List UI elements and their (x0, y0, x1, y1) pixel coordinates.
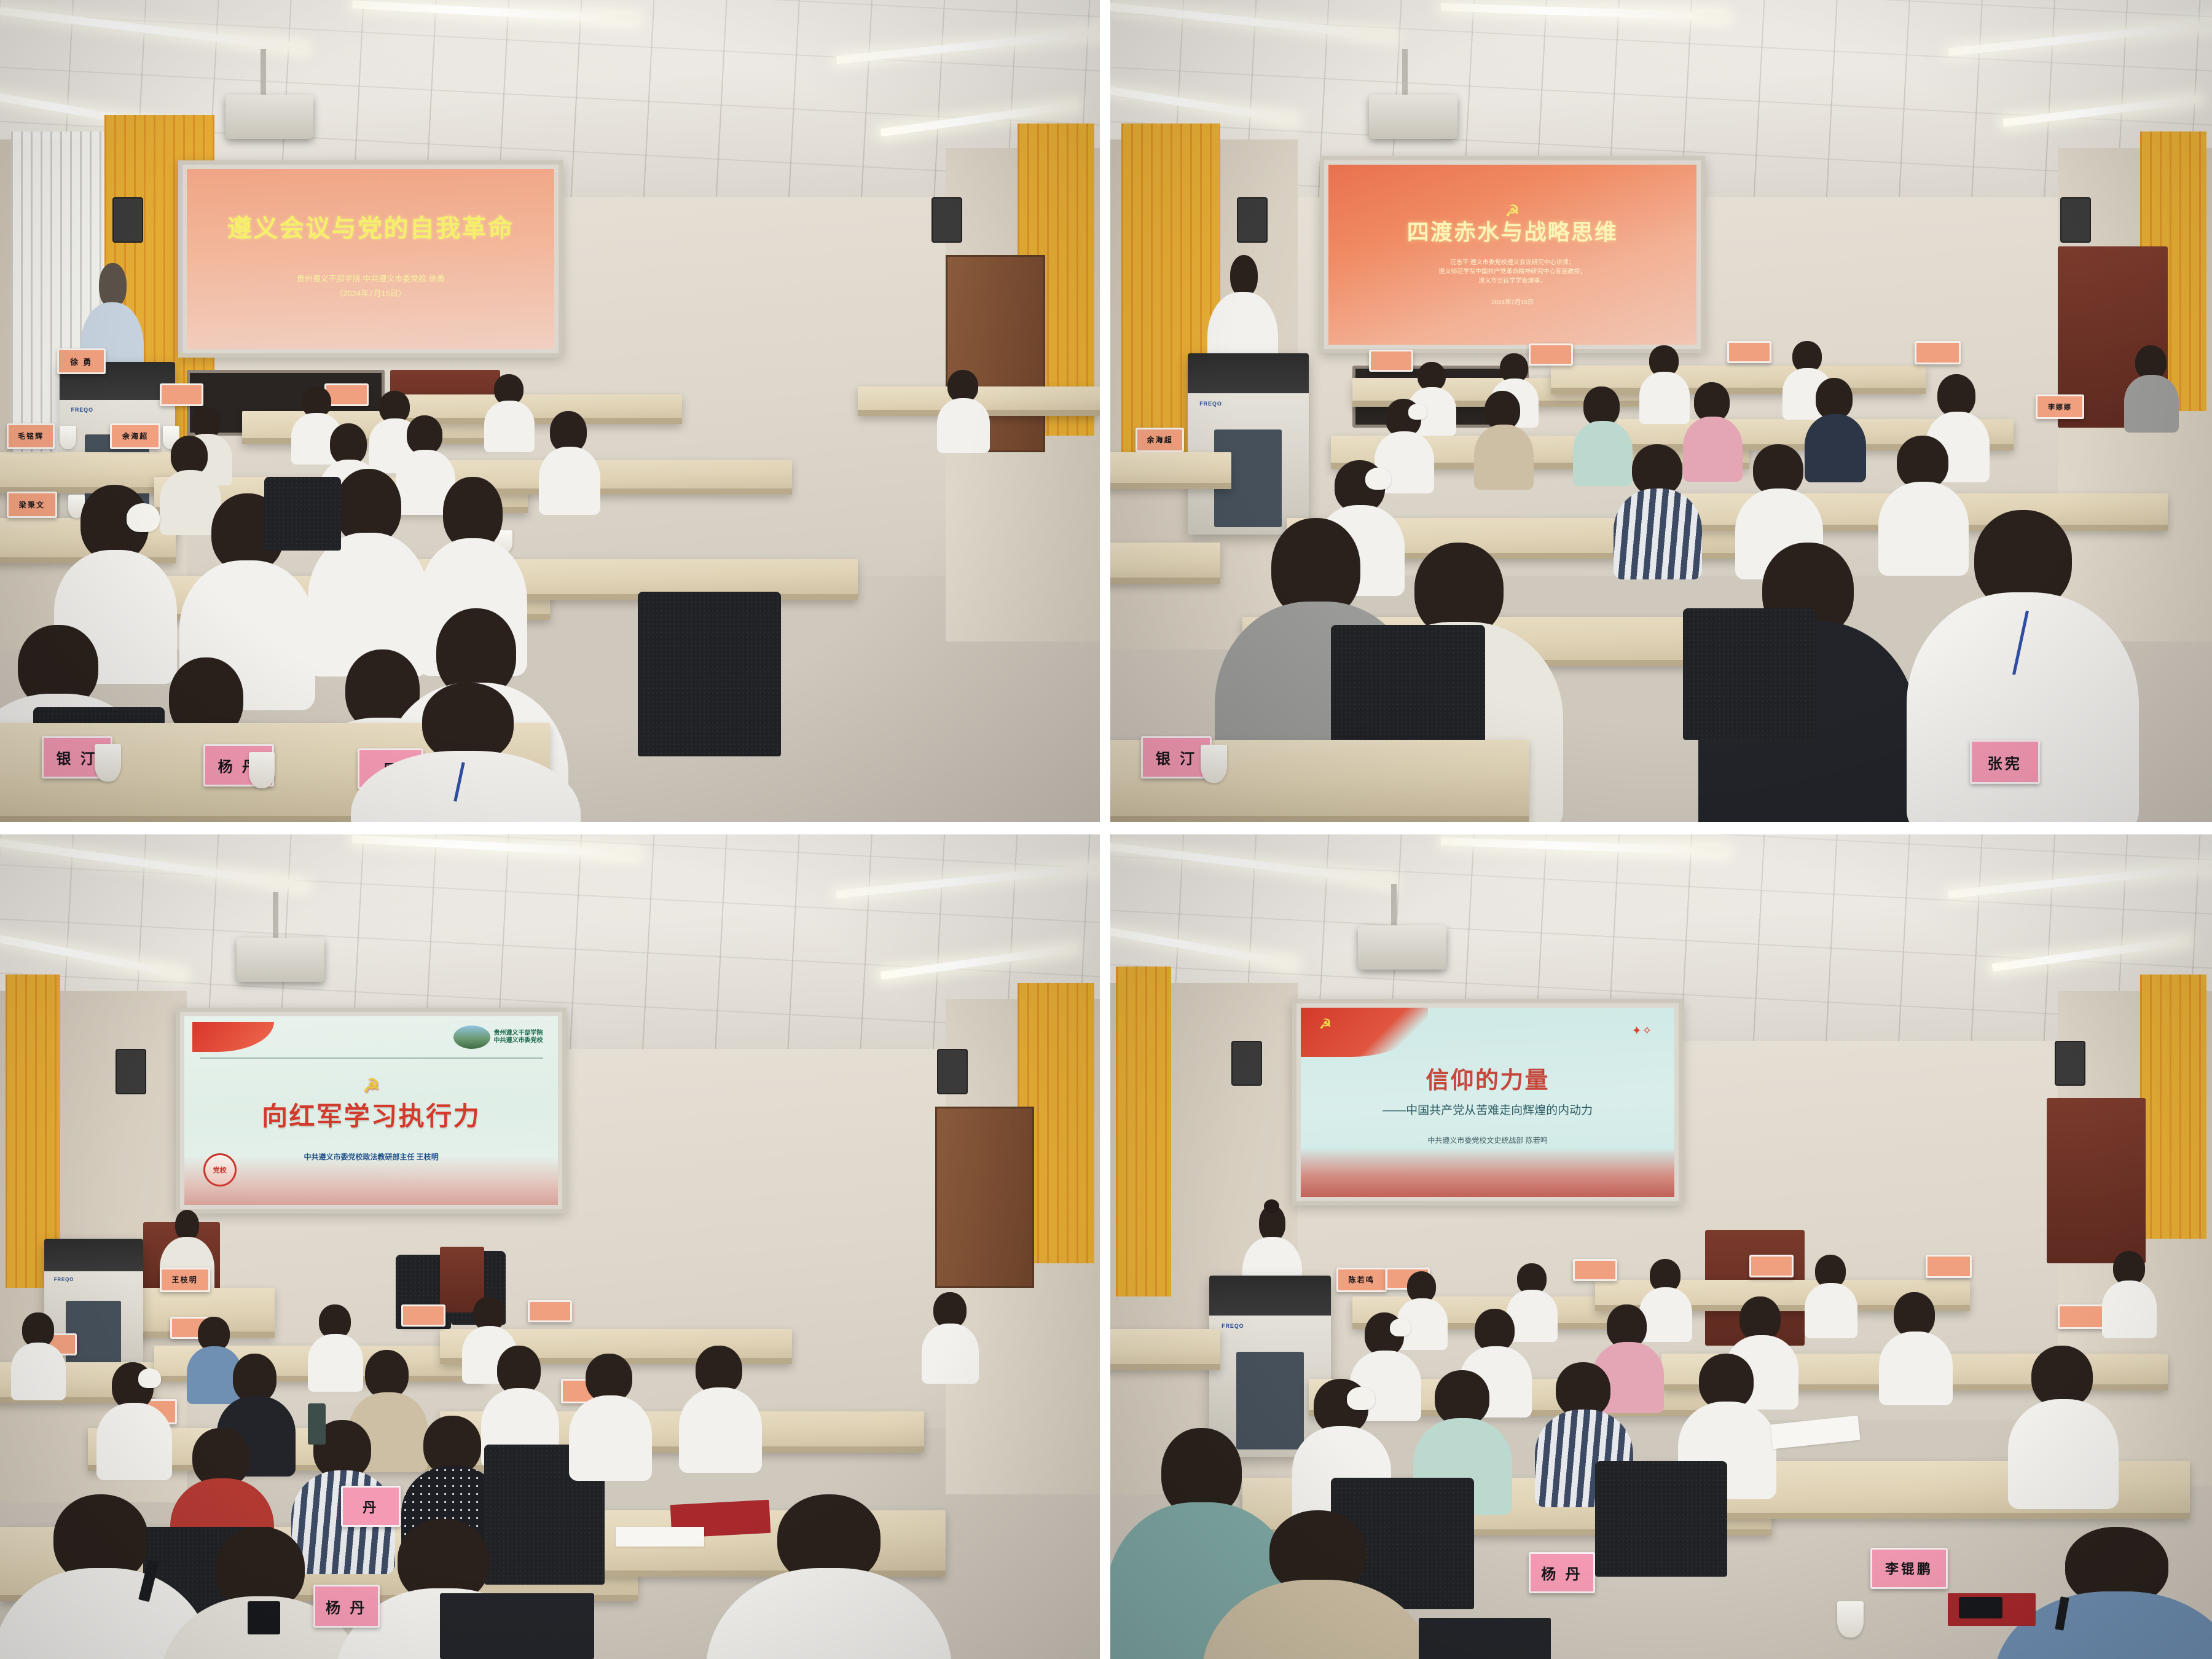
placard-4-likunpeng: 李锟鹏 (1870, 1548, 1948, 1589)
lectern-brand-2: FREQO (1199, 401, 1222, 407)
lectern-brand-3: FREQO (54, 1277, 74, 1282)
attendee-4-15 (2014, 1346, 2112, 1494)
placard-3-dan: 丹 (341, 1486, 401, 1527)
attendee-3-06 (99, 1362, 170, 1469)
placard-2-a (1369, 350, 1413, 372)
slide-title-1: 遵义会议与党的自我革命 (227, 215, 514, 243)
slide-presenter-1: 贵州遵义干部学院 中共遵义市委党校 徐勇 (297, 273, 445, 285)
projector-1 (226, 95, 313, 139)
attendee-3-05 (922, 1292, 979, 1379)
slide-date-1: （2024年7月15日） (335, 288, 406, 300)
projector-4 (1358, 925, 1446, 970)
photo-panel-4: ☭ ✦✧ 信仰的力量 ——中国共产党从苦难走向辉煌的内动力 中共遵义市委党校文史… (1110, 834, 2212, 1659)
attendee-4-10 (1881, 1292, 1950, 1395)
desk-4-a (1110, 1329, 1220, 1370)
cup-1-a (60, 426, 76, 449)
classroom-scene-1: 遵义会议与党的自我革命 贵州遵义干部学院 中共遵义市委党校 徐勇 （2024年7… (0, 0, 1100, 822)
campus-photo-icon-3 (453, 1026, 490, 1049)
placard-presenter-1: 徐 勇 (57, 348, 106, 374)
gutter-vertical-top (1100, 0, 1110, 822)
hammer-sickle-icon-4: ☭ (1319, 1018, 1332, 1031)
projection-screen-frame-2: ☭ 四渡赤水与战略思维 汪志平 遵义市委党校遵义会议研究中心讲师； 遵义师范学院… (1320, 156, 1706, 353)
projector-2 (1369, 95, 1457, 139)
lectern-brand-1: FREQO (71, 407, 93, 413)
attendee-1-05 (937, 370, 990, 448)
gutter-horizontal-right (1110, 822, 2212, 834)
attendee-3-18 (682, 1346, 759, 1461)
wall-speaker-1-left (112, 197, 143, 243)
slide-header-logo-3: 贵州遵义干部学院 中共遵义市委党校 (200, 1026, 543, 1049)
placard-4-yangdan: 杨 丹 (1529, 1552, 1595, 1593)
attendee-1-09 (539, 411, 600, 506)
paper-3 (616, 1527, 704, 1547)
lectern-2: FREQO (1188, 353, 1309, 534)
gutter-center-cross (1100, 822, 1110, 834)
slide-1: 遵义会议与党的自我革命 贵州遵义干部学院 中共遵义市委党校 徐勇 （2024年7… (187, 169, 555, 349)
photo-panel-1: 遵义会议与党的自我革命 贵州遵义干部学院 中共遵义市委党校 徐勇 （2024年7… (0, 0, 1100, 822)
wall-speaker-2-right (2060, 197, 2091, 243)
cup-2-front (1201, 745, 1227, 783)
placard-3-c (401, 1304, 445, 1327)
slide-title-3: 向红军学习执行力 (262, 1102, 480, 1131)
gutter-horizontal-left (0, 822, 1100, 834)
desk-2-a (1110, 452, 1231, 489)
attendee-1-04 (484, 374, 535, 448)
slide-title-4: 信仰的力量 (1426, 1068, 1549, 1094)
attendee-3-01 (11, 1312, 66, 1395)
chair-2-b (1683, 608, 1815, 740)
attendee-3-17 (572, 1354, 649, 1469)
attendee-2-13 (1617, 444, 1699, 568)
phone-3 (248, 1601, 281, 1634)
red-flag-corner-icon-4 (1301, 1008, 1428, 1057)
doves-icon-4: ✦✧ (1631, 1023, 1652, 1038)
photo-collage: 遵义会议与党的自我革命 贵州遵义干部学院 中共遵义市委党校 徐勇 （2024年7… (0, 0, 2212, 1659)
wall-speaker-1-right (931, 197, 962, 243)
projector-mount-1 (261, 49, 266, 98)
slide-presenter-2a: 汪志平 遵义市委党校遵义会议研究中心讲师； (1450, 258, 1575, 267)
photo-panel-2: ☭ 四渡赤水与战略思维 汪志平 遵义市委党校遵义会议研究中心讲师； 遵义师范学院… (1110, 0, 2212, 822)
placard-presenter-3: 王枝明 (160, 1268, 210, 1292)
logo-line-3a: 贵州遵义干部学院 (494, 1030, 543, 1038)
wood-panel-4 (2047, 1098, 2146, 1263)
laptop-3 (440, 1593, 594, 1659)
door-3 (935, 1107, 1034, 1288)
slide-4: ☭ ✦✧ 信仰的力量 ——中国共产党从苦难走向辉煌的内动力 中共遵义市委党校文史… (1301, 1008, 1675, 1197)
wall-speaker-4-left (1231, 1041, 1262, 1086)
wall-speaker-3-right (937, 1049, 968, 1094)
placard-1-a: 毛铭辉 (7, 423, 55, 449)
slide-2: ☭ 四渡赤水与战略思维 汪志平 遵义市委党校遵义会议研究中心讲师； 遵义师范学院… (1328, 165, 1697, 345)
wall-speaker-4-right (2055, 1041, 2085, 1086)
logo-line-3b: 中共遵义市委党校 (494, 1037, 543, 1045)
bottle-3 (308, 1403, 326, 1445)
wall-speaker-2-left (1237, 197, 1268, 243)
attendee-2-07 (1474, 391, 1534, 481)
slide-presenter-2c: 遵义市长征学学会理事。 (1478, 276, 1546, 286)
attendee-4-04 (1805, 1255, 1857, 1333)
placard-1-b: 余海超 (110, 423, 160, 449)
placard-1-d (160, 383, 204, 406)
cup-4-front (1837, 1601, 1864, 1637)
wall-speaker-3-left (116, 1049, 146, 1094)
slide-date-2: 2024年7月15日 (1491, 298, 1534, 307)
placard-4-b (1573, 1259, 1617, 1281)
slide-subtitle-4: ——中国共产党从苦难走向辉煌的内动力 (1382, 1102, 1593, 1120)
placard-4-d (1926, 1255, 1972, 1278)
hammer-sickle-icon-2: ☭ (1505, 203, 1520, 219)
laptop-4 (1419, 1618, 1551, 1659)
attendee-2-03 (1639, 345, 1690, 419)
photo-panel-3: 贵州遵义干部学院 中共遵义市委党校 ☭ 向红军学习执行力 中共遵义市委党校政法教… (0, 834, 1100, 1659)
placard-3-d (528, 1300, 572, 1322)
projection-screen-frame-4: ☭ ✦✧ 信仰的力量 ——中国共产党从苦难走向辉煌的内动力 中共遵义市委党校文史… (1292, 999, 1684, 1206)
placard-4-c (1749, 1255, 1794, 1277)
projector-3 (237, 938, 324, 982)
projector-mount-2 (1402, 49, 1408, 98)
attendee-3-13 (11, 1494, 187, 1659)
chair-4-b (1595, 1461, 1727, 1577)
attendee-2-05 (2124, 345, 2179, 428)
gold-curtain-4 (1116, 967, 1171, 1296)
gold-curtain-4b (2140, 975, 2206, 1238)
placard-2-zhangxian: 张宪 (1970, 740, 2041, 784)
chair-1-b (638, 592, 781, 756)
attendee-1-18 (363, 683, 561, 822)
placard-presenter-2: 余海超 (1135, 428, 1184, 452)
placard-2-linana: 李娜娜 (2036, 394, 2084, 419)
classroom-scene-3: 贵州遵义干部学院 中共遵义市委党校 ☭ 向红军学习执行力 中共遵义市委党校政法教… (0, 834, 1100, 1659)
placard-3-yangdan: 杨 丹 (313, 1585, 379, 1628)
attendee-4-05 (2102, 1251, 2157, 1333)
slide-title-2: 四渡赤水与战略思维 (1407, 220, 1618, 245)
lectern-brand-4: FREQO (1222, 1323, 1244, 1329)
placard-2-d (1915, 341, 1961, 364)
desk-2-b (1110, 543, 1220, 584)
slide-3: 贵州遵义干部学院 中共遵义市委党校 ☭ 向红军学习执行力 中共遵义市委党校政法教… (184, 1016, 557, 1206)
placard-2-c (1727, 341, 1771, 363)
classroom-scene-2: ☭ 四渡赤水与战略思维 汪志平 遵义市委党校遵义会议研究中心讲师； 遵义师范学院… (1110, 0, 2212, 822)
placard-1-c: 梁秉文 (7, 492, 57, 518)
cup-1-front-a (95, 744, 121, 782)
phone-4 (1959, 1597, 2003, 1618)
projector-mount-3 (273, 892, 278, 942)
classroom-scene-4: ☭ ✦✧ 信仰的力量 ——中国共产党从苦难走向辉煌的内动力 中共遵义市委党校文史… (1110, 834, 2212, 1659)
cup-1-front-b (249, 752, 275, 788)
gutter-vertical-bottom (1100, 834, 1110, 1659)
placard-4-e (2058, 1304, 2106, 1329)
projection-screen-frame-3: 贵州遵义干部学院 中共遵义市委党校 ☭ 向红军学习执行力 中共遵义市委党校政法教… (176, 1008, 566, 1214)
slide-presenter-2b: 遵义师范学院中国共产党革命精神研究中心客座教授； (1438, 267, 1586, 276)
attendee-4-17 (1220, 1510, 1408, 1659)
attendee-4-18 (2014, 1527, 2212, 1659)
hammer-sickle-icon-3: ☭ (363, 1077, 380, 1096)
slide-presenter-4: 中共遵义市委党校文史统战部 陈若鸣 (1427, 1135, 1547, 1146)
paper-4 (1770, 1415, 1861, 1449)
chair-1-a (264, 477, 341, 551)
placard-presenter-4: 陈若鸣 (1336, 1268, 1387, 1292)
projection-screen-frame-1: 遵义会议与党的自我革命 贵州遵义干部学院 中共遵义市委党校 徐勇 （2024年7… (178, 160, 563, 358)
